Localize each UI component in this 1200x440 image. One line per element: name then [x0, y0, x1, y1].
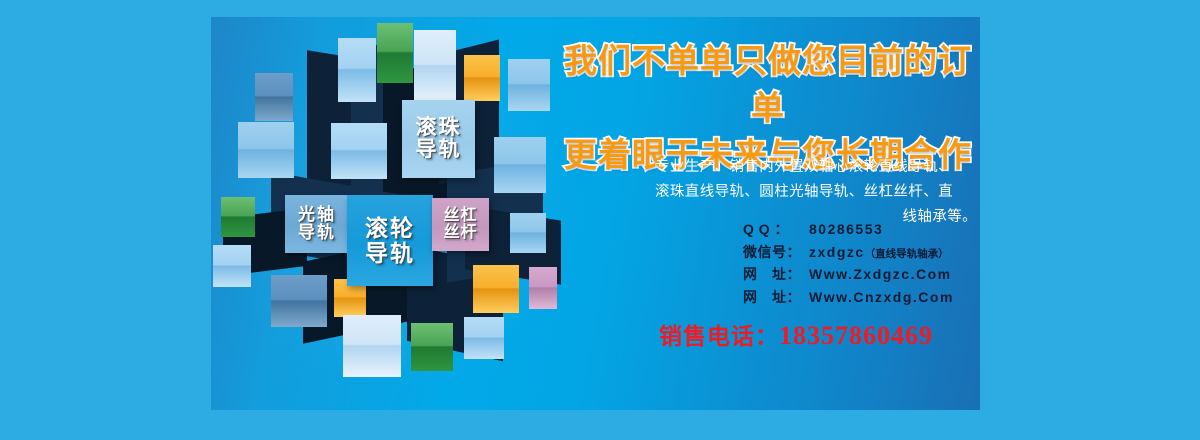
qq-value: 80286553 [809, 218, 883, 241]
cube [238, 122, 294, 178]
tile-gunzhu-daogui: 滚珠 导轨 [402, 100, 475, 178]
cube [473, 265, 519, 313]
sales-phone-label: 销售电话： [659, 323, 779, 349]
cube [213, 245, 251, 287]
tile-guangzhou-line2: 导轨 [298, 224, 336, 242]
wechat-value: zxdgzc [809, 241, 865, 264]
contact-row-website-1[interactable]: 网 址： Www.Zxdgzc.Com [743, 263, 980, 286]
banner-stage: 滚珠 导轨 光轴 导轨 滚轮 导轨 丝杠 丝杆 我们不单单只做您目前的订单 更着… [0, 0, 1200, 440]
website-2-value[interactable]: Www.Cnzxdg.Com [809, 286, 954, 309]
tile-guangzhou-daogui: 光轴 导轨 [285, 195, 349, 253]
cube [255, 73, 293, 121]
description-line-1: 专业生产、销售内外置双轴心滚轮直线导轨、 [631, 155, 977, 180]
website-2-label: 网 址： [743, 286, 809, 309]
tile-sigang-line2: 丝杆 [443, 225, 477, 242]
cube [331, 123, 387, 179]
contact-row-website-2[interactable]: 网 址： Www.Cnzxdg.Com [743, 286, 980, 309]
cube [302, 78, 344, 122]
cube [271, 275, 327, 327]
cube [510, 213, 546, 253]
wechat-label: 微信号： [743, 241, 809, 264]
tile-sigang-line1: 丝杠 [443, 208, 477, 225]
tile-gunlun-line1: 滚轮 [365, 216, 415, 240]
cube [529, 267, 557, 309]
cube-cluster-graphic: 滚珠 导轨 光轴 导轨 滚轮 导轨 丝杠 丝杆 [211, 17, 571, 410]
website-1-label: 网 址： [743, 263, 809, 286]
cube [221, 197, 255, 237]
qq-label: Q Q ： [743, 218, 809, 241]
website-1-value[interactable]: Www.Zxdgzc.Com [809, 263, 952, 286]
contact-row-wechat: 微信号： zxdgzc （直线导轨轴承） [743, 241, 980, 264]
cube [377, 23, 413, 83]
cube [343, 315, 401, 377]
tile-guangzhou-line1: 光轴 [298, 206, 336, 224]
cube [464, 317, 504, 359]
tile-sigang-sigan: 丝杠 丝杆 [432, 198, 489, 251]
cube [494, 137, 546, 193]
headline-line-1: 我们不单单只做您目前的订单 [559, 38, 977, 132]
cube [414, 30, 456, 102]
tile-gunlun-daogui: 滚轮 导轨 [347, 195, 433, 286]
cube [411, 323, 453, 371]
tile-gunzhu-line1: 滚珠 [416, 117, 462, 139]
sales-phone-number: 18357860469 [779, 321, 933, 350]
sales-phone: 销售电话：18357860469 [659, 317, 979, 351]
promo-banner: 滚珠 导轨 光轴 导轨 滚轮 导轨 丝杠 丝杆 我们不单单只做您目前的订单 更着… [211, 17, 980, 410]
description-line-2: 滚珠直线导轨、圆柱光轴导轨、丝杠丝杆、直 [631, 180, 977, 205]
tile-gunzhu-line2: 导轨 [416, 139, 462, 161]
tile-gunlun-line2: 导轨 [365, 241, 415, 265]
cube [508, 59, 550, 111]
cube [464, 55, 500, 101]
contact-block: Q Q ： 80286553 微信号： zxdgzc （直线导轨轴承） 网 址：… [743, 218, 980, 309]
contact-row-qq: Q Q ： 80286553 [743, 218, 980, 241]
wechat-note: （直线导轨轴承） [865, 246, 949, 263]
